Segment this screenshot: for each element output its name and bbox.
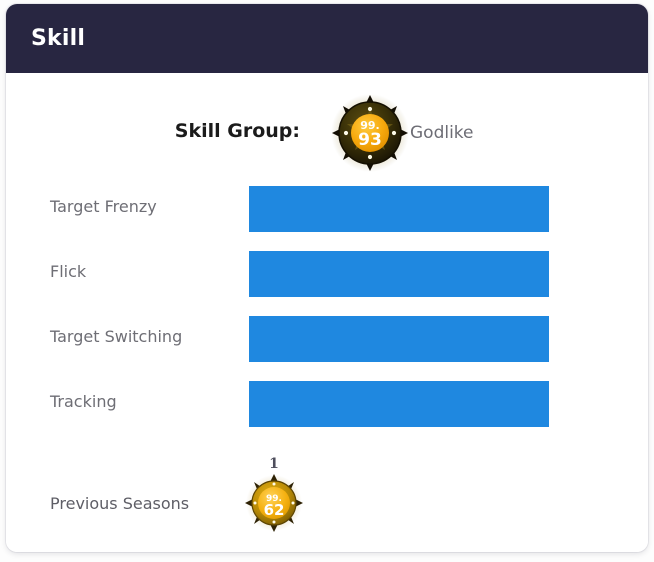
badge-bottom-text: 93 [358, 130, 382, 150]
skill-bar-label: Target Frenzy [50, 197, 157, 216]
previous-season-badge[interactable]: 99. 62 [244, 470, 304, 540]
rank-badge-icon: 99. 93 [324, 93, 416, 173]
previous-seasons-row: Previous Seasons 1 [6, 458, 648, 538]
skill-group-row: Skill Group: [6, 93, 648, 173]
skill-group-label: Skill Group: [50, 120, 300, 142]
skill-bar-row: Target Switching [6, 316, 648, 362]
card-header: Skill [6, 4, 648, 73]
skill-bar-label: Target Switching [50, 327, 182, 346]
skill-card: Skill Skill Group: [6, 4, 648, 552]
skill-bar-fill [249, 381, 549, 427]
previous-rank-badge-icon: 99. 62 [244, 470, 304, 534]
skill-panel-root: Skill Skill Group: [0, 0, 654, 562]
skill-group-badge: 99. 93 [324, 93, 416, 173]
skill-bar-track [249, 381, 549, 427]
skill-bar-fill [249, 251, 549, 297]
skill-group-rank-name: Godlike [410, 123, 474, 143]
skill-bar-row: Tracking [6, 381, 648, 427]
page-title: Skill [31, 26, 85, 51]
skill-bar-row: Target Frenzy [6, 186, 648, 232]
skill-bar-row: Flick [6, 251, 648, 297]
skill-bar-fill [249, 186, 549, 232]
skill-bar-label: Flick [50, 262, 86, 281]
skill-bar-fill [249, 316, 549, 362]
card-body: Skill Group: [6, 73, 648, 552]
previous-seasons-label: Previous Seasons [50, 494, 189, 513]
skill-bar-track [249, 316, 549, 362]
previous-badge-bottom-text: 62 [264, 501, 285, 519]
skill-bar-track [249, 251, 549, 297]
skill-bar-label: Tracking [50, 392, 117, 411]
skill-bar-track [249, 186, 549, 232]
